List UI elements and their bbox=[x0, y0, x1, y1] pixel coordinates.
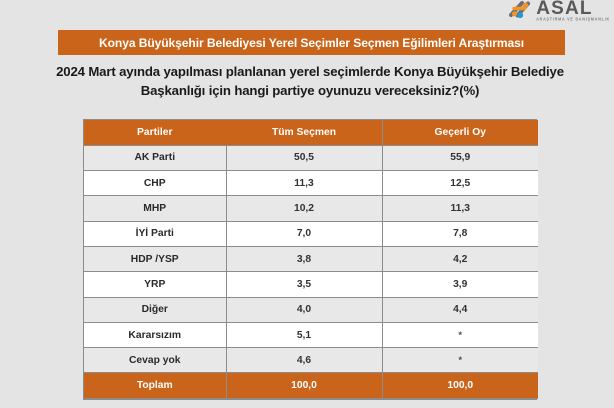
asal-logo-subtitle: ARAŞTIRMA VE DANIŞMANLIK bbox=[536, 18, 610, 22]
table-row: HDP /YSP 3,8 4,2 bbox=[84, 246, 538, 271]
row-all-voters-value: 3,8 bbox=[226, 246, 382, 271]
row-all-voters-value: 50,5 bbox=[226, 145, 382, 170]
total-valid-votes-value: 100,0 bbox=[382, 373, 538, 398]
row-valid-votes-value: 55,9 bbox=[382, 145, 538, 170]
table-header: Partiler Tüm Seçmen Geçerli Oy bbox=[84, 120, 538, 145]
row-party-label: İYİ Parti bbox=[84, 221, 226, 246]
survey-title-banner: Konya Büyükşehir Belediyesi Yerel Seçiml… bbox=[58, 30, 565, 55]
table-row: AK Parti 50,5 55,9 bbox=[84, 145, 538, 170]
table-row: CHP 11,3 12,5 bbox=[84, 171, 538, 196]
column-header-party: Partiler bbox=[84, 120, 226, 145]
row-party-label: MHP bbox=[84, 196, 226, 221]
row-valid-votes-value: 3,9 bbox=[382, 272, 538, 297]
table-header-row: Partiler Tüm Seçmen Geçerli Oy bbox=[84, 120, 538, 145]
row-valid-votes-value: 12,5 bbox=[382, 171, 538, 196]
total-label: Toplam bbox=[84, 373, 226, 398]
row-party-label: AK Parti bbox=[84, 145, 226, 170]
asal-logo-wordmark: ASAL bbox=[536, 0, 593, 17]
column-header-all-voters: Tüm Seçmen bbox=[226, 120, 382, 145]
row-party-label: CHP bbox=[84, 171, 226, 196]
survey-title-text: Konya Büyükşehir Belediyesi Yerel Seçiml… bbox=[99, 36, 524, 50]
row-valid-votes-value: 4,4 bbox=[382, 297, 538, 322]
row-all-voters-value: 5,1 bbox=[226, 322, 382, 347]
row-all-voters-value: 3,5 bbox=[226, 272, 382, 297]
row-all-voters-value: 4,0 bbox=[226, 297, 382, 322]
row-party-label: Diğer bbox=[84, 297, 226, 322]
survey-question: 2024 Mart ayında yapılması planlanan yer… bbox=[50, 62, 570, 100]
table-row: Kararsızım 5,1 * bbox=[84, 322, 538, 347]
row-valid-votes-value: 7,8 bbox=[382, 221, 538, 246]
table-row: Diğer 4,0 4,4 bbox=[84, 297, 538, 322]
row-party-label: Kararsızım bbox=[84, 322, 226, 347]
table-row: İYİ Parti 7,0 7,8 bbox=[84, 221, 538, 246]
results-table-container: Partiler Tüm Seçmen Geçerli Oy AK Parti … bbox=[83, 119, 537, 400]
row-valid-votes-value: * bbox=[382, 322, 538, 347]
table-body: AK Parti 50,5 55,9 CHP 11,3 12,5 MHP 10,… bbox=[84, 145, 538, 373]
table-row: YRP 3,5 3,9 bbox=[84, 272, 538, 297]
table-footer: Toplam 100,0 100,0 bbox=[84, 373, 538, 398]
table-row: MHP 10,2 11,3 bbox=[84, 196, 538, 221]
row-party-label: YRP bbox=[84, 272, 226, 297]
row-party-label: HDP /YSP bbox=[84, 246, 226, 271]
table-total-row: Toplam 100,0 100,0 bbox=[84, 373, 538, 398]
results-table: Partiler Tüm Seçmen Geçerli Oy AK Parti … bbox=[84, 120, 538, 399]
table-row: Cevap yok 4,6 * bbox=[84, 348, 538, 373]
total-all-voters-value: 100,0 bbox=[226, 373, 382, 398]
row-all-voters-value: 11,3 bbox=[226, 171, 382, 196]
column-header-valid-votes: Geçerli Oy bbox=[382, 120, 538, 145]
row-valid-votes-value: * bbox=[382, 348, 538, 373]
row-all-voters-value: 4,6 bbox=[226, 348, 382, 373]
asal-logo-mark-icon bbox=[508, 0, 534, 20]
row-valid-votes-value: 4,2 bbox=[382, 246, 538, 271]
row-party-label: Cevap yok bbox=[84, 348, 226, 373]
asal-logo: ASAL ARAŞTIRMA VE DANIŞMANLIK bbox=[508, 0, 610, 24]
row-all-voters-value: 10,2 bbox=[226, 196, 382, 221]
row-all-voters-value: 7,0 bbox=[226, 221, 382, 246]
row-valid-votes-value: 11,3 bbox=[382, 196, 538, 221]
